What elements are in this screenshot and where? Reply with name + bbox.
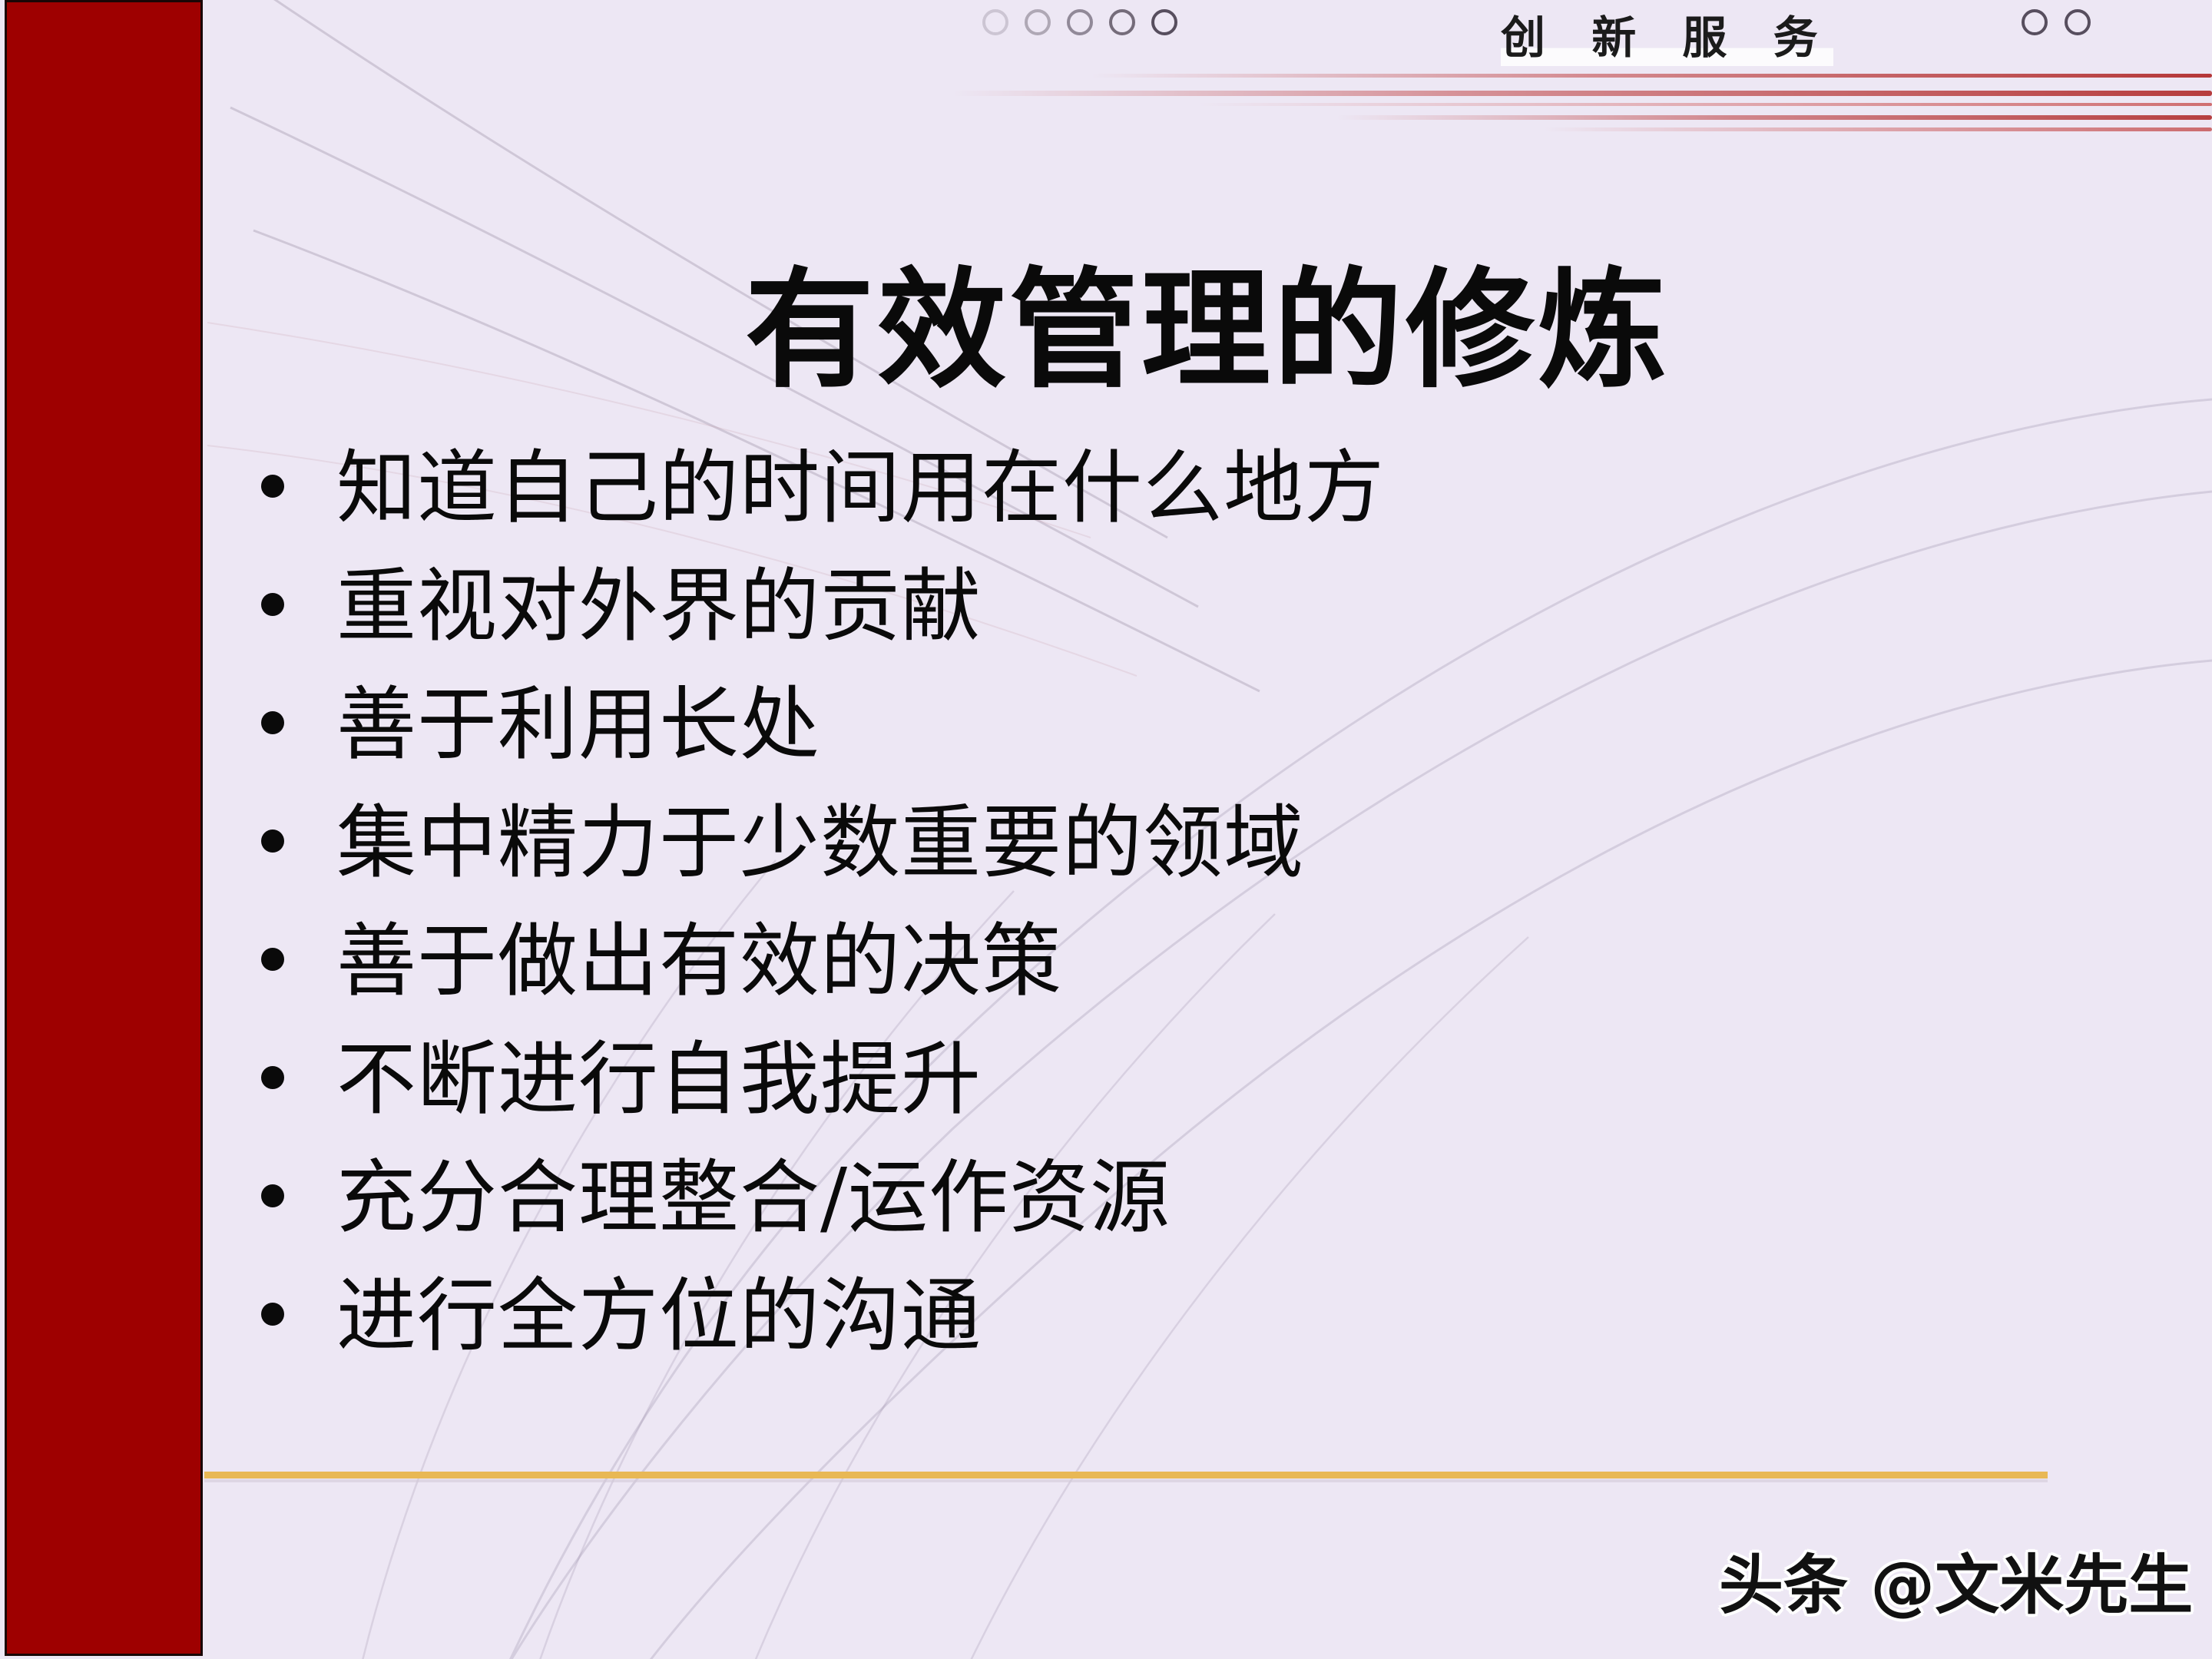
circle-ring-3-icon: [1067, 9, 1093, 35]
header-circle-group-right: [2022, 9, 2091, 35]
bullet-list: 知道自己的时间用在什么地方 重视对外界的贡献 善于利用长处 集中精力于少数重要的…: [261, 435, 2028, 1381]
bullet-disc-icon: [261, 1303, 284, 1326]
slide-title: 有效管理的修炼: [203, 265, 2212, 394]
gold-divider-shadow: [204, 1479, 2048, 1482]
list-item-label: 重视对外界的贡献: [336, 553, 982, 660]
circle-ring-6-icon: [2022, 9, 2048, 35]
header-stripe-2: [952, 91, 2212, 96]
header-stripe-1: [1091, 74, 2212, 78]
presentation-slide: 创 新 服 务 有效管理的修炼 知道自己的时间用在什么地方 重视对外界的贡献 善…: [0, 0, 2212, 1659]
circle-ring-5-icon: [1151, 9, 1177, 35]
bullet-disc-icon: [261, 948, 284, 971]
list-item: 重视对外界的贡献: [261, 553, 2028, 671]
list-item: 知道自己的时间用在什么地方: [261, 435, 2028, 553]
list-item-label: 充分合理整合/运作资源: [336, 1144, 1171, 1251]
list-item-label: 善于利用长处: [336, 671, 820, 778]
circle-ring-4-icon: [1109, 9, 1135, 35]
bullet-disc-icon: [261, 1184, 284, 1207]
bullet-disc-icon: [261, 475, 284, 498]
bullet-disc-icon: [261, 1066, 284, 1089]
bullet-disc-icon: [261, 711, 284, 734]
left-accent-bar: [5, 0, 203, 1656]
list-item: 充分合理整合/运作资源: [261, 1144, 2028, 1263]
bullet-disc-icon: [261, 829, 284, 853]
list-item-label: 集中精力于少数重要的领域: [336, 790, 1304, 896]
list-item: 善于利用长处: [261, 671, 2028, 790]
header-stripe-5: [1544, 127, 2212, 131]
circle-ring-7-icon: [2065, 9, 2091, 35]
watermark: 头条 @文米先生: [1719, 1553, 2193, 1618]
bullet-disc-icon: [261, 593, 284, 616]
list-item-label: 进行全方位的沟通: [336, 1263, 982, 1369]
header-stripe-3: [1198, 103, 2212, 106]
list-item: 进行全方位的沟通: [261, 1263, 2028, 1381]
header-slogan: 创 新 服 务: [1501, 2, 1833, 66]
slide-header: 创 新 服 务: [203, 0, 2212, 115]
list-item-label: 善于做出有效的决策: [336, 908, 1062, 1015]
list-item: 集中精力于少数重要的领域: [261, 790, 2028, 908]
gold-divider: [204, 1472, 2048, 1479]
header-circle-group-left: [982, 9, 1177, 35]
circle-ring-2-icon: [1025, 9, 1051, 35]
list-item-label: 知道自己的时间用在什么地方: [336, 435, 1385, 541]
circle-ring-1-icon: [982, 9, 1008, 35]
list-item: 不断进行自我提升: [261, 1026, 2028, 1144]
list-item-label: 不断进行自我提升: [336, 1026, 982, 1133]
header-stripe-4: [1336, 115, 2212, 120]
list-item: 善于做出有效的决策: [261, 908, 2028, 1026]
